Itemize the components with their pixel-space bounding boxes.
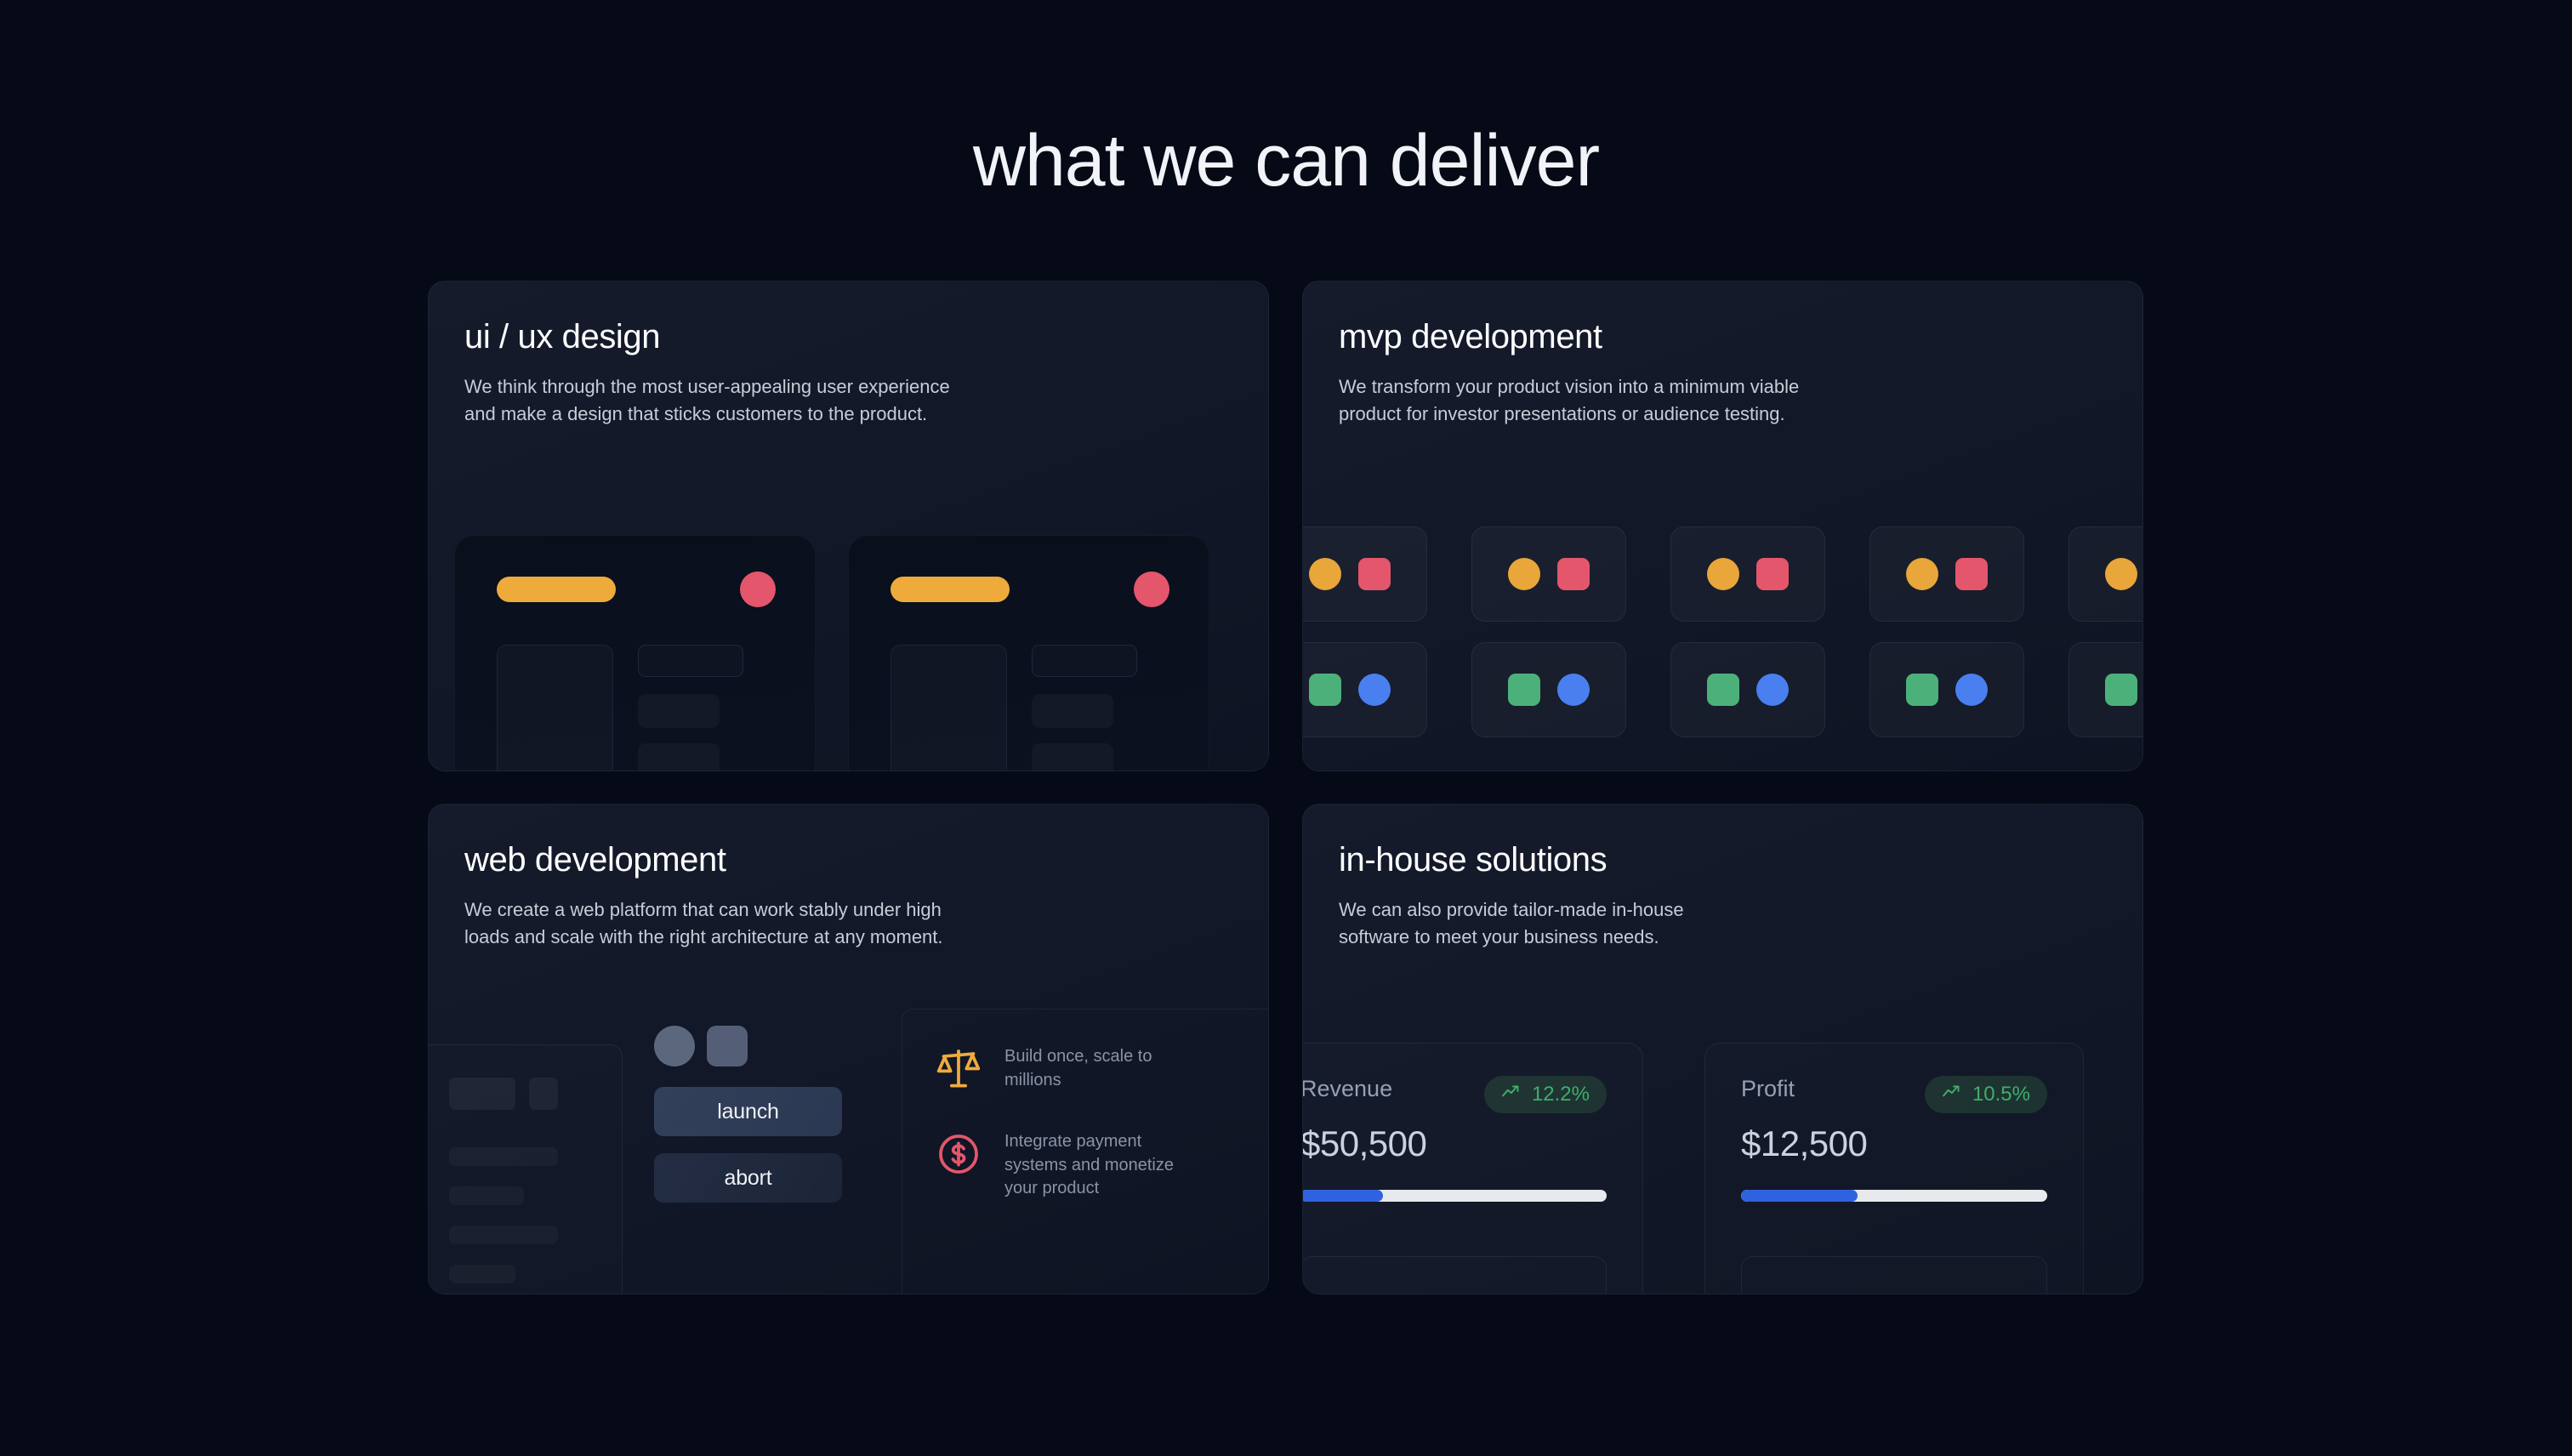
stat-card-row: Revenue 12.2% $ (1303, 1043, 2084, 1294)
skeleton-line (449, 1265, 515, 1283)
launch-button[interactable]: launch (654, 1087, 842, 1136)
card-title: mvp development (1339, 317, 2107, 356)
progress-fill (1303, 1190, 1383, 1202)
status-badge: 10.5% (1925, 1076, 2047, 1113)
feature-item: Build once, scale to millions (935, 1045, 1268, 1093)
mockup-image-block (497, 645, 613, 771)
swatch-tile (1869, 526, 2024, 622)
mockup-accent-dot (740, 572, 776, 607)
phone-mockup (454, 535, 816, 771)
stat-value: $12,500 (1741, 1123, 2047, 1164)
swatch-square-red (1358, 558, 1391, 590)
dollar-circle-icon (935, 1130, 982, 1178)
swatch-circle-blue (1557, 674, 1590, 706)
card-description: We transform your product vision into a … (1339, 373, 2070, 427)
swatch-circle-orange (1508, 558, 1540, 590)
swatch-circle-blue (1358, 674, 1391, 706)
service-card-ui-ux-design[interactable]: ui / ux design We think through the most… (428, 281, 1269, 771)
swatch-tile (1471, 642, 1626, 737)
swatch-tile (1303, 526, 1427, 622)
mockup-row-block (1032, 743, 1113, 771)
feature-text: Integrate payment systems and monetize y… (1004, 1130, 1217, 1201)
card-title: ui / ux design (464, 317, 1232, 356)
stat-label: Profit (1741, 1076, 1795, 1102)
stat-label: Revenue (1303, 1076, 1392, 1102)
swatch-square-green (2105, 674, 2137, 706)
feature-text: Build once, scale to millions (1004, 1045, 1217, 1092)
progress-track (1741, 1190, 2047, 1202)
square-chip-icon (707, 1026, 748, 1066)
swatch-circle-orange (1906, 558, 1938, 590)
wireframe-controls: launch abort (643, 1026, 856, 1203)
card-description: We think through the most user-appealing… (464, 373, 1196, 427)
skeleton-line (449, 1147, 558, 1166)
swatch-square-green (1906, 674, 1938, 706)
swatch-tile (1670, 642, 1825, 737)
swatch-square-green (1707, 674, 1739, 706)
card-header: web development We create a web platform… (429, 805, 1268, 950)
swatch-tile (1303, 642, 1427, 737)
card-description: We can also provide tailor-made in-house… (1339, 896, 2070, 950)
wireframe-wrapper: launch abort (429, 1009, 1268, 1294)
stat-card-profit: Profit 10.5% $1 (1704, 1043, 2084, 1294)
swatch-circle-blue (1756, 674, 1789, 706)
swatch-tile (2068, 526, 2142, 622)
service-card-web-development[interactable]: web development We create a web platform… (428, 804, 1269, 1294)
trend-up-icon (1942, 1083, 1964, 1106)
service-card-in-house-solutions[interactable]: in-house solutions We can also provide t… (1302, 804, 2143, 1294)
card-header: ui / ux design We think through the most… (429, 282, 1268, 427)
stat-card-revenue: Revenue 12.2% $ (1303, 1043, 1643, 1294)
stat-delta: 12.2% (1532, 1083, 1590, 1106)
swatch-square-red (1557, 558, 1590, 590)
card-title: in-house solutions (1339, 840, 2107, 879)
progress-fill (1741, 1190, 1858, 1202)
feature-list: Build once, scale to millions Integrate (902, 1009, 1268, 1294)
mvp-illustration (1303, 486, 2142, 771)
stat-header: Profit 10.5% (1741, 1076, 2047, 1113)
swatch-square-green (1309, 674, 1341, 706)
stat-sub-panel (1303, 1256, 1607, 1294)
stat-value: $50,500 (1303, 1123, 1607, 1164)
service-card-mvp-development[interactable]: mvp development We transform your produc… (1302, 281, 2143, 771)
card-header: mvp development We transform your produc… (1303, 282, 2142, 427)
swatch-square-red (1955, 558, 1988, 590)
in-house-illustration: Revenue 12.2% $ (1303, 1009, 2142, 1294)
wireframe-panel (429, 1044, 623, 1294)
card-description: We create a web platform that can work s… (464, 896, 1196, 950)
phone-mockup-row (454, 535, 1209, 771)
mockup-image-block (891, 645, 1007, 771)
mockup-accent-bar (497, 577, 616, 602)
abort-button[interactable]: abort (654, 1153, 842, 1203)
swatch-tile-grid (1303, 526, 2142, 737)
mockup-accent-bar (891, 577, 1010, 602)
circle-chip-icon (654, 1026, 695, 1066)
trend-up-icon (1501, 1083, 1523, 1106)
status-badge: 12.2% (1484, 1076, 1607, 1113)
skeleton-line (449, 1186, 524, 1205)
service-card-grid: ui / ux design We think through the most… (428, 281, 2143, 1294)
skeleton-block (529, 1078, 558, 1110)
card-header: in-house solutions We can also provide t… (1303, 805, 2142, 950)
swatch-tile (1670, 526, 1825, 622)
mockup-row-block (638, 743, 720, 771)
skeleton-block (449, 1078, 515, 1110)
swatch-tile (2068, 642, 2142, 737)
mockup-accent-dot (1134, 572, 1169, 607)
stat-sub-panel (1741, 1256, 2047, 1294)
progress-track (1303, 1190, 1607, 1202)
swatch-circle-orange (1309, 558, 1341, 590)
swatch-circle-blue (1955, 674, 1988, 706)
swatch-square-green (1508, 674, 1540, 706)
mockup-input-block (638, 645, 743, 677)
feature-item: Integrate payment systems and monetize y… (935, 1130, 1268, 1201)
control-chip-row (643, 1026, 856, 1066)
swatch-square-red (1756, 558, 1789, 590)
skeleton-line (449, 1226, 558, 1244)
card-title: web development (464, 840, 1232, 879)
mockup-row-block (1032, 694, 1113, 728)
stat-delta: 10.5% (1972, 1083, 2030, 1106)
page-root: what we can deliver ui / ux design We th… (0, 0, 2572, 1456)
mockup-row-block (638, 694, 720, 728)
swatch-tile (1471, 526, 1626, 622)
swatch-circle-orange (1707, 558, 1739, 590)
page-title: what we can deliver (0, 121, 2572, 202)
swatch-tile (1869, 642, 2024, 737)
swatch-circle-orange (2105, 558, 2137, 590)
scales-icon (935, 1045, 982, 1093)
stat-header: Revenue 12.2% (1303, 1076, 1607, 1113)
mockup-input-block (1032, 645, 1137, 677)
phone-mockup (848, 535, 1209, 771)
ui-ux-illustration (429, 486, 1268, 771)
web-development-illustration: launch abort (429, 1009, 1268, 1294)
